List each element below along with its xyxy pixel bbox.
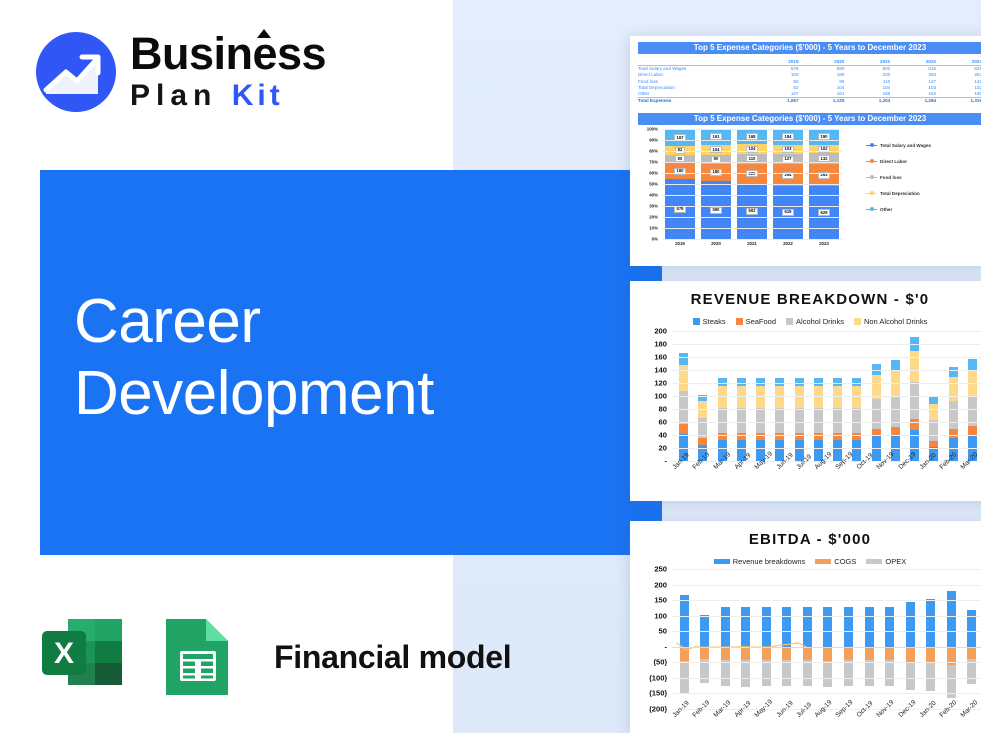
chart1-legend: Total Salary and WagesDirect LaborFood l… xyxy=(866,143,981,223)
table-cell-value: 1,316 xyxy=(936,97,981,104)
expense-table: 20192020202120222023Total Salary and Wag… xyxy=(638,58,981,104)
logo-text-plankit: Plan Kit xyxy=(130,79,326,112)
chart3-legend-item: COGS xyxy=(815,557,856,566)
chart2-legend-swatch xyxy=(693,318,700,325)
chart2-bar-segment xyxy=(852,386,861,407)
chart1-bar-segment: 578 xyxy=(665,179,695,239)
ebitda-chart-title: EBITDA - $'000 xyxy=(630,531,981,548)
logo-text-business: Business xyxy=(130,32,326,76)
chart3-legend-label: COGS xyxy=(834,557,856,566)
chart1-bar-segment: 190 xyxy=(809,129,839,145)
chart1-bar-segment: 102 xyxy=(809,145,839,154)
chart3-legend-swatch xyxy=(866,559,882,564)
chart3-gridline xyxy=(672,569,981,570)
chart1-data-label: 104 xyxy=(710,146,722,153)
chart2-gridline xyxy=(672,331,981,332)
chart3-legend-item: Revenue breakdowns xyxy=(714,557,806,566)
chart3-bar-column xyxy=(961,569,981,709)
chart3-opex-bar xyxy=(906,662,915,690)
chart2-legend-item: Alcohol Drinks xyxy=(786,317,844,326)
chart2-legend-label: SeaFood xyxy=(746,317,776,326)
chart3-cogs-bar xyxy=(865,647,874,661)
growth-arrow-circle-icon xyxy=(36,32,116,112)
chart1-data-label: 590 xyxy=(710,207,722,214)
chart1-bar-segment: 184 xyxy=(773,129,803,145)
chart2-bar-segment xyxy=(852,440,861,461)
chart2-bar-segment xyxy=(968,426,977,435)
chart3-legend-swatch xyxy=(714,559,730,564)
ebitda-trend-line xyxy=(672,569,812,709)
brand-logo: Business Plan Kit xyxy=(36,32,326,112)
chart1-x-axis: 20192020202120222023 xyxy=(662,241,842,246)
chart2-bar-segment xyxy=(833,408,842,433)
chart1-legend-label: Total Depreciation xyxy=(880,191,920,196)
chart2-bar-segment xyxy=(718,386,727,407)
chart2-plot-area xyxy=(672,331,981,461)
table-cell-value: 1,204 xyxy=(844,97,890,104)
expense-chart-title: Top 5 Expense Categories ($'000) - 5 Yea… xyxy=(638,113,981,125)
chart2-bar-segment xyxy=(795,386,804,407)
chart1-legend-item: Total Depreciation xyxy=(866,191,981,196)
chart2-y-tick: 140 xyxy=(654,366,667,375)
chart2-stacked-bar xyxy=(949,367,958,461)
chart3-opex-bar xyxy=(823,661,832,687)
ebitda-card[interactable]: EBITDA - $'000 Revenue breakdownsCOGSOPE… xyxy=(630,521,981,733)
chart1-y-tick: 100% xyxy=(647,127,658,132)
chart2-y-tick: 160 xyxy=(654,353,667,362)
table-cell-value: 615 xyxy=(890,65,936,72)
table-header-cell: 2022 xyxy=(890,58,936,65)
table-cell-value: 602 xyxy=(844,65,890,72)
chart3-y-tick: (50) xyxy=(653,658,667,667)
chart2-bar-segment xyxy=(872,399,881,428)
chart1-x-tick: 2019 xyxy=(665,241,695,246)
chart1-gridline xyxy=(662,140,842,141)
chart3-legend-label: OPEX xyxy=(885,557,906,566)
chart3-legend-label: Revenue breakdowns xyxy=(733,557,806,566)
chart3-revenue-bar xyxy=(823,607,832,647)
chart2-gridline xyxy=(672,396,981,397)
chart3-bar-column xyxy=(818,569,839,709)
chart1-y-tick: 40% xyxy=(649,193,658,198)
chart2-bar-segment xyxy=(718,408,727,433)
table-cell-value: 1,284 xyxy=(890,97,936,104)
page-title-line1: Career xyxy=(74,286,614,358)
chart2-y-tick: 80 xyxy=(659,405,667,414)
chart1-legend-item: Total Salary and Wages xyxy=(866,143,981,148)
chart1-gridline xyxy=(662,184,842,185)
page-title-line2: Development xyxy=(74,358,614,430)
chart3-y-tick: 100 xyxy=(654,611,667,620)
chart1-bar-segment: 168 xyxy=(737,129,767,144)
chart3-bar-column xyxy=(838,569,859,709)
table-cell-value: 629 xyxy=(936,65,981,72)
chart3-cogs-bar xyxy=(823,647,832,661)
chart1-legend-label: Direct Labor xyxy=(880,159,907,164)
chart2-bar-segment xyxy=(929,397,938,404)
chart2-bar-segment xyxy=(756,386,765,407)
chart1-legend-swatch xyxy=(866,145,877,147)
table-cell-value: 190 xyxy=(936,90,981,97)
chart1-y-tick: 60% xyxy=(649,171,658,176)
format-badges: X Financial model xyxy=(38,613,511,701)
chart3-legend-item: OPEX xyxy=(866,557,906,566)
chart2-legend-swatch xyxy=(786,318,793,325)
table-cell-value: 578 xyxy=(753,65,799,72)
chart1-y-tick: 20% xyxy=(649,215,658,220)
chart3-y-tick: (200) xyxy=(649,705,667,714)
chart1-y-axis: 0%10%20%30%40%50%60%70%80%90%100% xyxy=(638,129,660,239)
chart1-bar-segment: 590 xyxy=(701,181,731,239)
chart2-y-tick: 40 xyxy=(659,431,667,440)
chart3-revenue-bar xyxy=(906,602,915,647)
chart1-legend-label: Total Salary and Wages xyxy=(880,143,931,148)
chart2-gridline xyxy=(672,344,981,345)
table-header-row: 20192020202120222023 xyxy=(638,58,981,65)
chart1-data-label: 615 xyxy=(782,209,794,216)
chart3-opex-bar xyxy=(885,660,894,686)
logo-plan-label: Plan xyxy=(130,79,217,112)
chart3-y-axis: 25020015010050-(50)(100)(150)(200) xyxy=(640,569,670,709)
chart3-y-tick: 200 xyxy=(654,580,667,589)
svg-text:X: X xyxy=(54,637,74,670)
chart1-gridline xyxy=(662,206,842,207)
chart3-opex-bar xyxy=(865,660,874,686)
chart2-legend-label: Steaks xyxy=(703,317,726,326)
table-row: Other167161168184190 xyxy=(638,90,981,97)
chart1-y-tick: 30% xyxy=(649,204,658,209)
chart2-bar-segment xyxy=(910,419,919,429)
microsoft-excel-icon: X xyxy=(38,613,126,701)
chart1-data-label: 602 xyxy=(746,208,758,215)
expense-stacked-chart: 0%10%20%30%40%50%60%70%80%90%100% 167828… xyxy=(638,129,981,257)
table-cell-value: 184 xyxy=(890,90,936,97)
chart2-legend-item: Non Alcohol Drinks xyxy=(854,317,927,326)
chart1-y-tick: 10% xyxy=(649,226,658,231)
chart1-y-tick: 70% xyxy=(649,160,658,165)
chart3-revenue-bar xyxy=(865,607,874,647)
chart1-legend-item: Food loss xyxy=(866,175,981,180)
table-cell-value: 1,067 xyxy=(753,97,799,104)
chart1-gridline xyxy=(662,151,842,152)
revenue-chart-area: -20406080100120140160180200 xyxy=(640,331,981,461)
chart1-bar-segment: 104 xyxy=(737,144,767,154)
chart3-zero-line xyxy=(672,647,981,648)
chart1-bar-segment: 160 xyxy=(665,163,695,179)
chart1-bar-segment: 602 xyxy=(737,184,767,239)
chart2-gridline xyxy=(672,422,981,423)
chart1-plot-area: 1678280160578161104901805901681041102206… xyxy=(662,129,842,239)
chart2-gridline xyxy=(672,383,981,384)
chart3-gridline xyxy=(672,600,981,601)
chart2-bar-segment xyxy=(814,408,823,433)
chart1-x-tick: 2020 xyxy=(701,241,731,246)
chart2-y-tick: 200 xyxy=(654,327,667,336)
chart1-gridline xyxy=(662,228,842,229)
chart3-cogs-bar xyxy=(844,647,853,661)
chart3-y-tick: (100) xyxy=(649,673,667,682)
table-cell-label: Other xyxy=(638,90,753,97)
chart1-y-tick: 90% xyxy=(649,138,658,143)
chart1-legend-item: Other xyxy=(866,207,981,212)
chart3-revenue-bar xyxy=(844,607,853,647)
chart2-bar-segment xyxy=(949,377,958,400)
chart1-gridline xyxy=(662,217,842,218)
chart1-gridline xyxy=(662,173,842,174)
chart2-gridline xyxy=(672,409,981,410)
table-cell-value: 1,125 xyxy=(799,97,845,104)
chart3-y-tick: (150) xyxy=(649,689,667,698)
logo-business-label: Business xyxy=(130,28,326,79)
chart2-y-tick: 100 xyxy=(654,392,667,401)
circumflex-accent-icon xyxy=(257,29,271,38)
table-cell-value: 161 xyxy=(799,90,845,97)
chart2-gridline xyxy=(672,448,981,449)
chart3-gridline xyxy=(672,678,981,679)
chart2-bar-segment xyxy=(737,408,746,433)
chart2-bar-segment xyxy=(775,408,784,433)
chart1-x-tick: 2023 xyxy=(809,241,839,246)
chart2-bar-segment xyxy=(756,408,765,433)
chart1-legend-item: Direct Labor xyxy=(866,159,981,164)
logo-kit-label: Kit xyxy=(232,79,284,112)
chart2-bar-segment xyxy=(910,351,919,382)
chart3-cogs-bar xyxy=(906,647,915,663)
chart3-gridline xyxy=(672,693,981,694)
chart2-bar-segment xyxy=(814,386,823,407)
table-cell-label: Total Expenses xyxy=(638,97,753,104)
chart2-legend-label: Non Alcohol Drinks xyxy=(864,317,927,326)
chart2-stacked-bar xyxy=(929,397,938,461)
table-header-cell: 2023 xyxy=(936,58,981,65)
slide-canvas: Business Plan Kit Career Development X xyxy=(0,0,981,733)
ebitda-chart-area: 25020015010050-(50)(100)(150)(200) xyxy=(640,569,981,709)
chart2-y-tick: 120 xyxy=(654,379,667,388)
chart2-stacked-bar xyxy=(891,360,900,461)
expense-table-title: Top 5 Expense Categories ($'000) - 5 Yea… xyxy=(638,42,981,54)
chart1-bar-segment: 161 xyxy=(701,129,731,145)
financial-model-label: Financial model xyxy=(274,639,511,676)
chart2-bar-segment xyxy=(679,353,688,365)
chart3-revenue-bar xyxy=(926,599,935,646)
chart1-y-tick: 50% xyxy=(649,182,658,187)
chart2-y-tick: 60 xyxy=(659,418,667,427)
chart1-legend-label: Food loss xyxy=(880,175,902,180)
chart1-legend-swatch xyxy=(866,161,877,163)
chart3-gridline xyxy=(672,631,981,632)
revenue-chart-legend: SteaksSeaFoodAlcohol DrinksNon Alcohol D… xyxy=(630,317,981,326)
chart2-bar-segment xyxy=(852,408,861,433)
chart1-y-tick: 80% xyxy=(649,149,658,154)
chart3-gridline xyxy=(672,662,981,663)
chart2-bar-segment xyxy=(949,367,958,377)
table-cell-value: 590 xyxy=(799,65,845,72)
table-cell-label: Total Salary and Wages xyxy=(638,65,753,72)
chart1-legend-swatch xyxy=(866,209,877,211)
chart2-legend-swatch xyxy=(736,318,743,325)
chart2-bar-segment xyxy=(833,386,842,407)
table-header-cell xyxy=(638,58,753,65)
table-total-row: Total Expenses1,0671,1251,2041,2841,316 xyxy=(638,97,981,104)
chart1-gridline xyxy=(662,162,842,163)
expense-categories-card[interactable]: Top 5 Expense Categories ($'000) - 5 Yea… xyxy=(630,36,981,266)
chart3-y-tick: 150 xyxy=(654,596,667,605)
chart1-bar-segment: 167 xyxy=(665,129,695,146)
revenue-breakdown-card[interactable]: REVENUE BREAKDOWN - $'0 SteaksSeaFoodAlc… xyxy=(630,281,981,501)
chart2-bar-segment xyxy=(968,359,977,370)
chart2-bar-segment xyxy=(949,429,958,438)
table-header-cell: 2020 xyxy=(799,58,845,65)
chart3-plot-area xyxy=(672,569,981,709)
chart1-gridline xyxy=(662,195,842,196)
chart2-y-tick: - xyxy=(664,457,667,466)
chart3-cogs-bar xyxy=(967,647,976,659)
chart2-bar-segment xyxy=(775,386,784,407)
chart2-legend-swatch xyxy=(854,318,861,325)
chart2-bar-segment xyxy=(795,408,804,433)
google-sheets-icon xyxy=(154,613,242,701)
page-title: Career Development xyxy=(74,286,614,430)
chart2-x-axis: Jan-19Feb-19Mar-19Apr-19May-19Jun-19Jul-… xyxy=(672,465,974,472)
chart3-bar-column xyxy=(941,569,962,709)
chart3-x-axis: Jan-19Feb-19Mar-19Apr-19May-19Jun-19Jul-… xyxy=(672,713,974,720)
table-header-cell: 2021 xyxy=(844,58,890,65)
table-cell-value: 167 xyxy=(753,90,799,97)
chart3-bar-column xyxy=(900,569,921,709)
chart3-gridline xyxy=(672,616,981,617)
chart3-bar-column xyxy=(859,569,880,709)
chart3-bar-column xyxy=(879,569,900,709)
chart1-bar-segment: 254 xyxy=(773,164,803,186)
chart1-gridline xyxy=(662,129,842,130)
chart2-gridline xyxy=(672,370,981,371)
chart1-bar-segment: 103 xyxy=(773,145,803,154)
chart3-gridline xyxy=(672,585,981,586)
chart3-y-tick: 250 xyxy=(654,565,667,574)
chart2-legend-item: Steaks xyxy=(693,317,726,326)
chart2-bar-segment xyxy=(929,404,938,420)
chart2-legend-item: SeaFood xyxy=(736,317,776,326)
table-header-cell: 2019 xyxy=(753,58,799,65)
ebitda-chart-legend: Revenue breakdownsCOGSOPEX xyxy=(630,557,981,566)
chart2-y-tick: 180 xyxy=(654,340,667,349)
chart3-cogs-bar xyxy=(926,647,935,663)
chart2-bar-segment xyxy=(929,420,938,441)
chart3-opex-bar xyxy=(844,660,853,686)
chart3-legend-swatch xyxy=(815,559,831,564)
chart1-y-tick: 0% xyxy=(652,237,658,242)
chart3-revenue-bar xyxy=(885,607,894,647)
chart1-legend-swatch xyxy=(866,177,877,179)
chart1-x-tick: 2021 xyxy=(737,241,767,246)
chart2-gridline xyxy=(672,435,981,436)
chart2-bar-segment xyxy=(679,424,688,434)
chart3-y-tick: 50 xyxy=(659,627,667,636)
chart2-gridline xyxy=(672,357,981,358)
table-cell-value: 168 xyxy=(844,90,890,97)
chart1-x-tick: 2022 xyxy=(773,241,803,246)
table-row: Total Salary and Wages578590602615629 xyxy=(638,65,981,72)
chart3-bar-column xyxy=(920,569,941,709)
chart1-legend-swatch xyxy=(866,193,877,195)
chart2-bar-segment xyxy=(679,365,688,391)
chart1-gridline xyxy=(662,239,842,240)
chart1-legend-label: Other xyxy=(880,207,892,212)
chart2-y-tick: 20 xyxy=(659,444,667,453)
chart3-y-tick: - xyxy=(664,642,667,651)
chart2-y-axis: -20406080100120140160180200 xyxy=(640,331,670,461)
chart2-legend-label: Alcohol Drinks xyxy=(796,317,844,326)
revenue-chart-title: REVENUE BREAKDOWN - $'0 xyxy=(630,291,981,308)
chart2-stacked-bar xyxy=(872,364,881,461)
chart2-bar-segment xyxy=(910,382,919,420)
chart3-cogs-bar xyxy=(885,647,894,661)
chart2-bar-segment xyxy=(737,386,746,407)
chart2-stacked-bar xyxy=(910,337,919,461)
chart1-data-label: 629 xyxy=(818,209,830,216)
chart1-bar-segment: 104 xyxy=(701,145,731,155)
chart2-bar-segment xyxy=(891,371,900,397)
chart2-bar-segment xyxy=(949,401,958,430)
